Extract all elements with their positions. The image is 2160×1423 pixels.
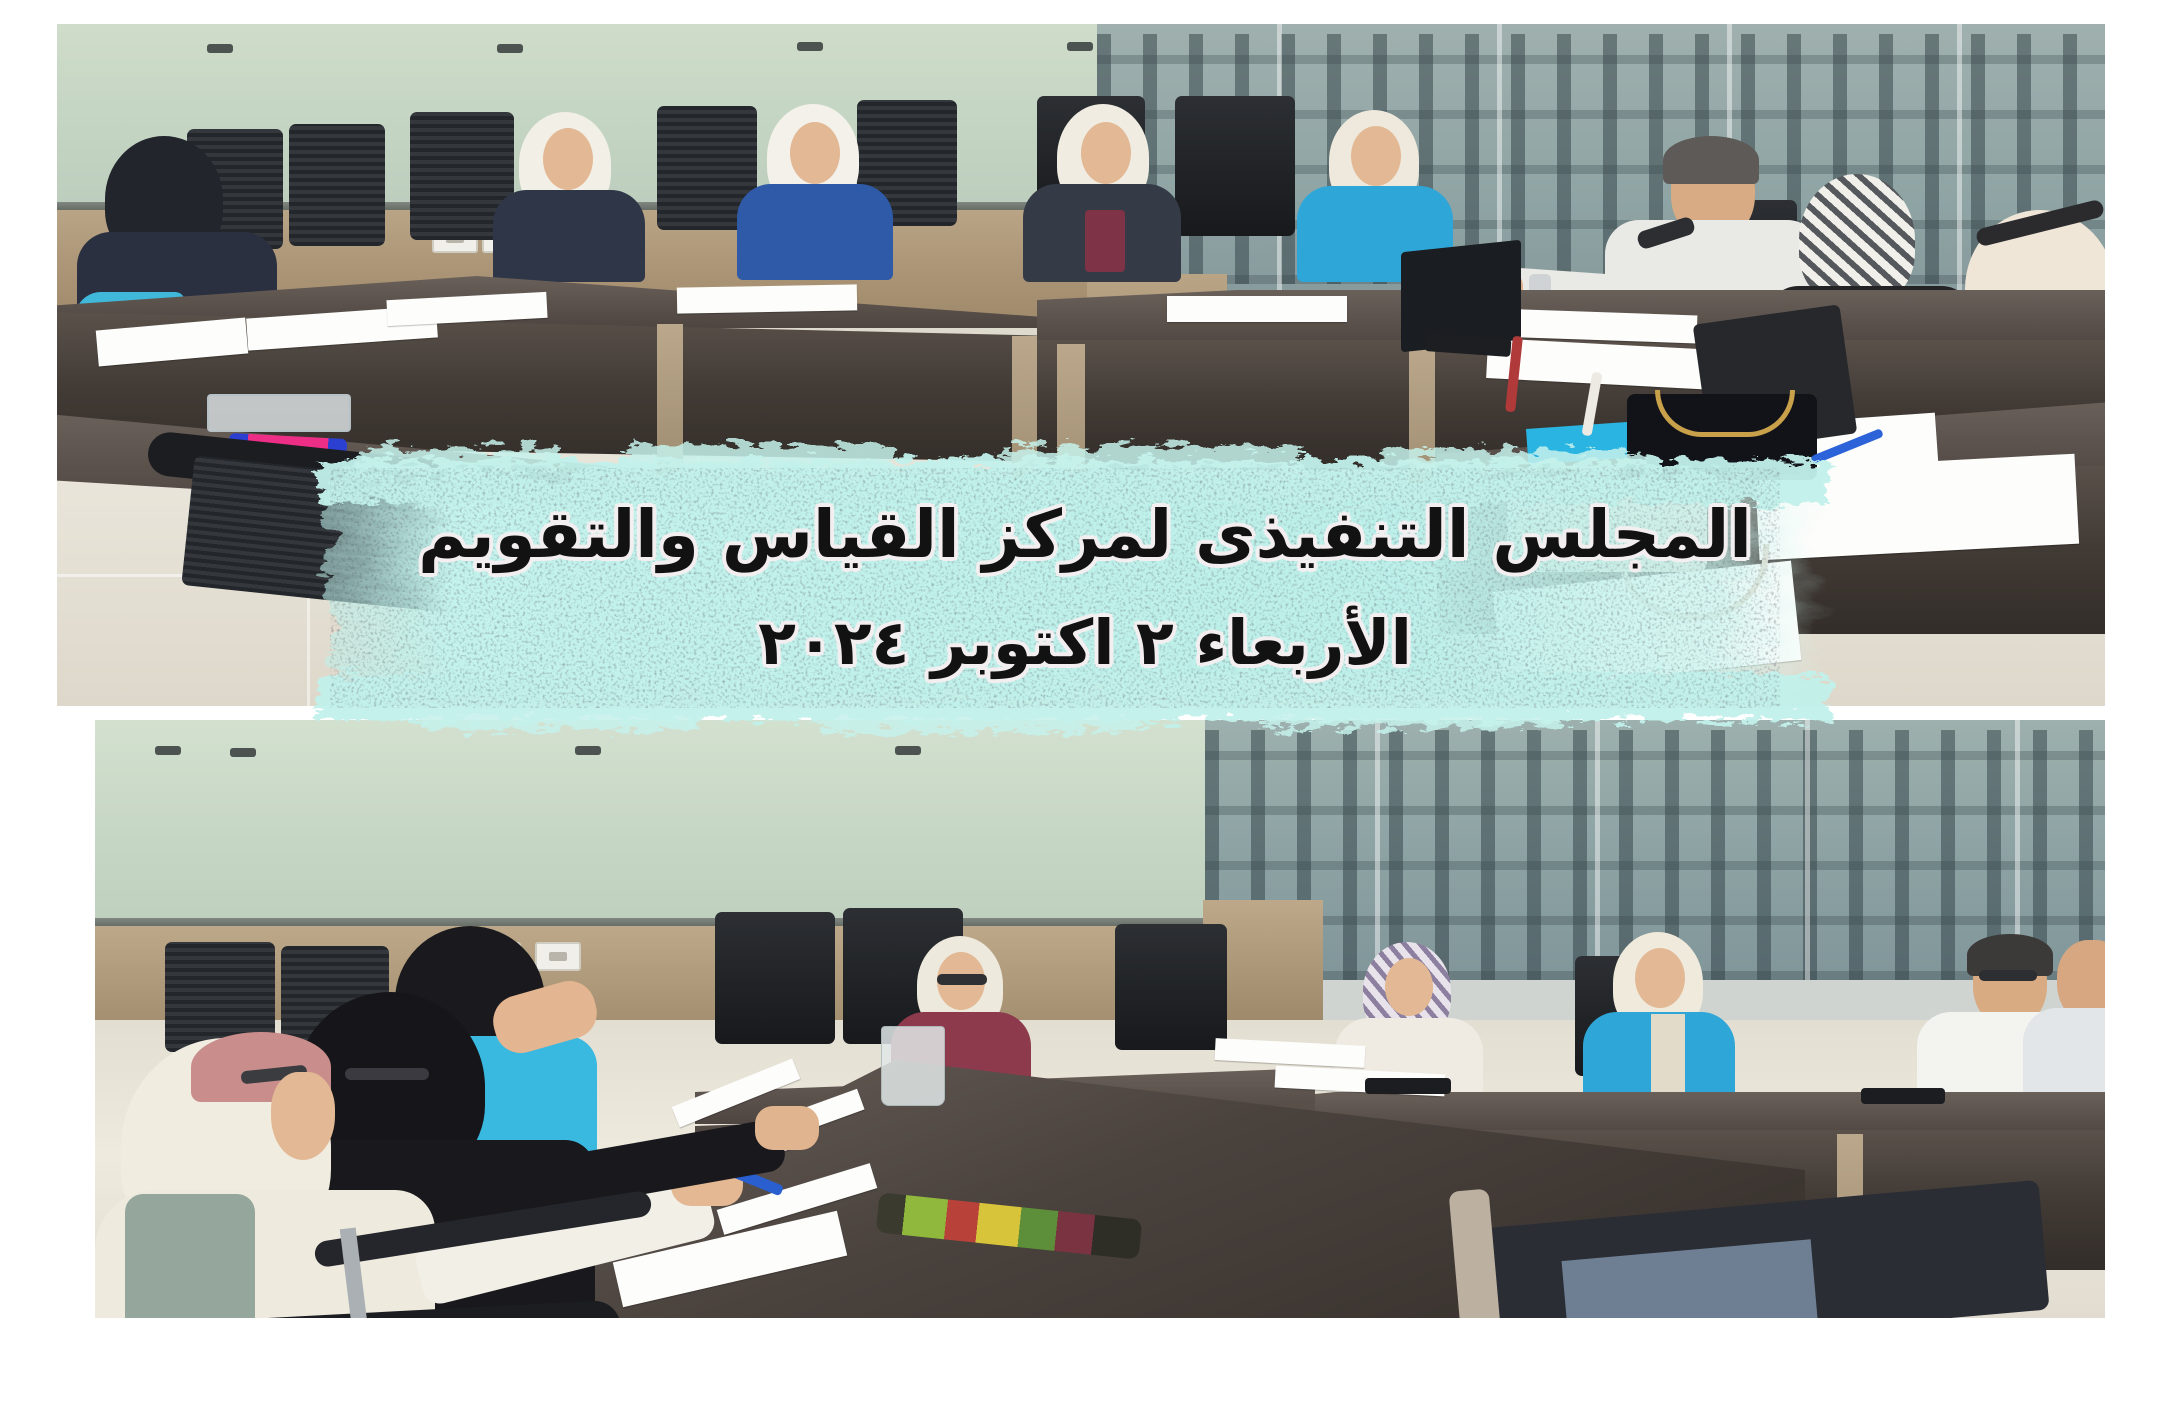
water-glass	[881, 1026, 945, 1106]
paper-sheet	[677, 284, 857, 313]
niqab-eye-slit	[345, 1068, 429, 1080]
arabic-title-banner: المجلس التنفيذى لمركز القياس والتقويم ال…	[300, 438, 1870, 738]
mobile-phone	[1861, 1088, 1945, 1104]
office-chair	[1115, 924, 1227, 1050]
face	[1351, 126, 1401, 186]
office-chair	[1175, 96, 1295, 236]
wall-socket	[535, 942, 581, 971]
eyeglasses	[937, 974, 987, 985]
office-chair	[289, 124, 385, 246]
paper-sheet	[1167, 296, 1347, 322]
person-left-center-body	[493, 190, 645, 282]
frosted-glass-wall	[95, 720, 1235, 925]
face	[790, 122, 840, 184]
face	[1385, 958, 1433, 1016]
meeting-room-photo-bottom	[95, 720, 2105, 1318]
office-chair	[715, 912, 835, 1044]
eyeglasses	[1979, 970, 2037, 981]
hand	[755, 1106, 819, 1150]
banner-title-line2: الأربعاء ٢ اكتوبر ٢٠٢٤	[758, 607, 1412, 678]
face	[271, 1072, 335, 1160]
hair	[1663, 136, 1759, 184]
face	[1081, 122, 1131, 184]
face	[1635, 948, 1685, 1008]
face	[543, 128, 593, 190]
person-center-left-body	[737, 184, 893, 280]
mobile-phone	[1365, 1078, 1451, 1094]
scarf-tail	[1651, 1014, 1685, 1100]
collage-canvas: المجلس التنفيذى لمركز القياس والتقويم ال…	[0, 0, 2160, 1423]
banner-title-line1: المجلس التنفيذى لمركز القياس والتقويم	[418, 497, 1752, 573]
desk-tray	[207, 394, 351, 432]
maroon-collar	[1085, 210, 1125, 272]
chair-headrest	[125, 1194, 255, 1318]
banner-text-block: المجلس التنفيذى لمركز القياس والتقويم ال…	[300, 438, 1870, 738]
